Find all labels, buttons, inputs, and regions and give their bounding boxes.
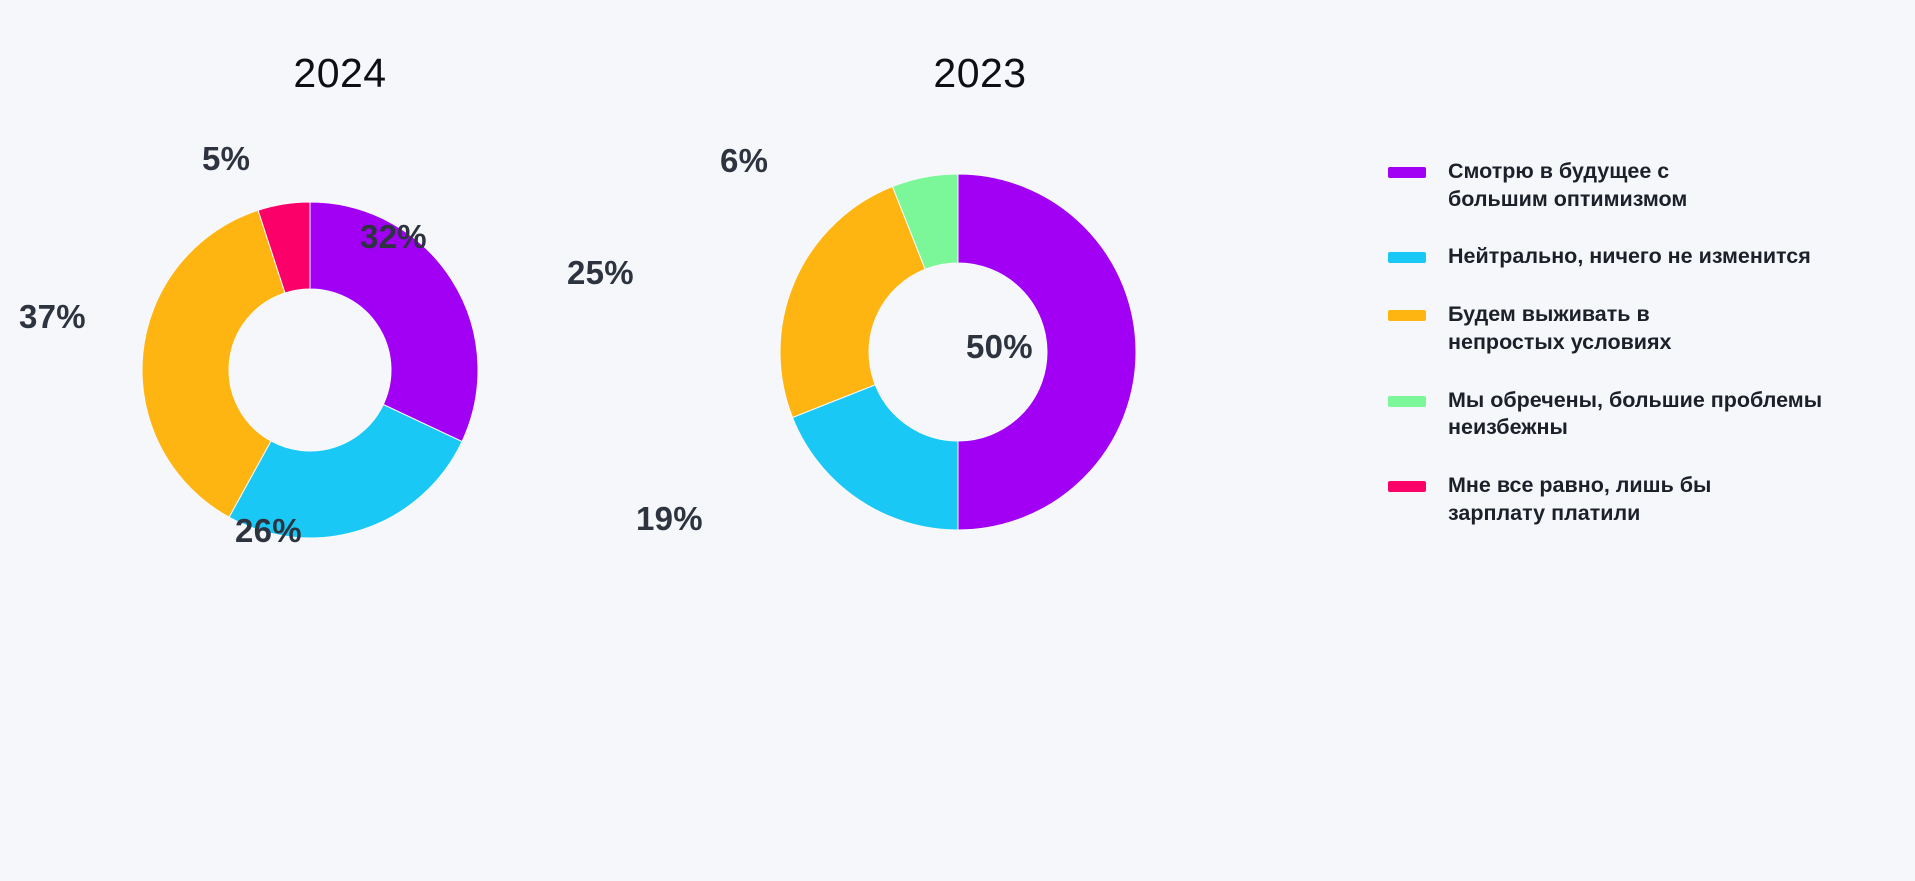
legend-item-label: Смотрю в будущее с большим оптимизмом xyxy=(1448,158,1687,213)
donut-2024 xyxy=(140,200,480,540)
donut-2024-svg xyxy=(140,200,480,540)
legend-item-label: Нейтрально, ничего не изменится xyxy=(1448,243,1811,271)
chart-panel-2023: 2023 50% 19% 25% 6% xyxy=(700,30,1260,590)
chart-title-2023: 2023 xyxy=(700,50,1260,97)
chart-legend: Смотрю в будущее с большим оптимизмом Не… xyxy=(1388,158,1888,558)
legend-item-label: Мне все равно, лишь бы зарплату платили xyxy=(1448,472,1711,527)
slice-label-2023-purple: 50% xyxy=(966,328,1033,366)
slice-label-2023-cyan: 19% xyxy=(636,500,703,538)
slice-label-2024-orange: 37% xyxy=(19,298,86,336)
donut-2023 xyxy=(778,172,1138,532)
slice-label-2024-cyan: 26% xyxy=(235,512,302,550)
slice-label-2024-pink: 5% xyxy=(202,140,250,178)
legend-swatch-icon xyxy=(1388,310,1426,321)
legend-item-optimism[interactable]: Смотрю в будущее с большим оптимизмом xyxy=(1388,158,1888,213)
legend-item-label: Будем выживать в непростых условиях xyxy=(1448,301,1672,356)
slice-label-2024-purple: 32% xyxy=(360,218,427,256)
legend-swatch-icon xyxy=(1388,396,1426,407)
chart-panel-2024: 2024 32% 26% 37% 5% xyxy=(60,30,620,590)
donut-slice[interactable] xyxy=(780,186,925,417)
legend-item-neutral[interactable]: Нейтрально, ничего не изменится xyxy=(1388,243,1888,271)
donut-2023-svg xyxy=(778,172,1138,532)
legend-swatch-icon xyxy=(1388,167,1426,178)
legend-item-indifferent[interactable]: Мне все равно, лишь бы зарплату платили xyxy=(1388,472,1888,527)
legend-item-doomed[interactable]: Мы обречены, большие проблемы неизбежны xyxy=(1388,387,1888,442)
legend-item-survive[interactable]: Будем выживать в непростых условиях xyxy=(1388,301,1888,356)
slice-label-2023-green: 6% xyxy=(720,142,768,180)
chart-title-2024: 2024 xyxy=(60,50,620,97)
donut-chart-figure: 2024 32% 26% 37% 5% 2023 50% 19% 25% 6% … xyxy=(0,0,1915,881)
legend-swatch-icon xyxy=(1388,481,1426,492)
legend-item-label: Мы обречены, большие проблемы неизбежны xyxy=(1448,387,1822,442)
slice-label-2023-orange: 25% xyxy=(567,254,634,292)
legend-swatch-icon xyxy=(1388,252,1426,263)
